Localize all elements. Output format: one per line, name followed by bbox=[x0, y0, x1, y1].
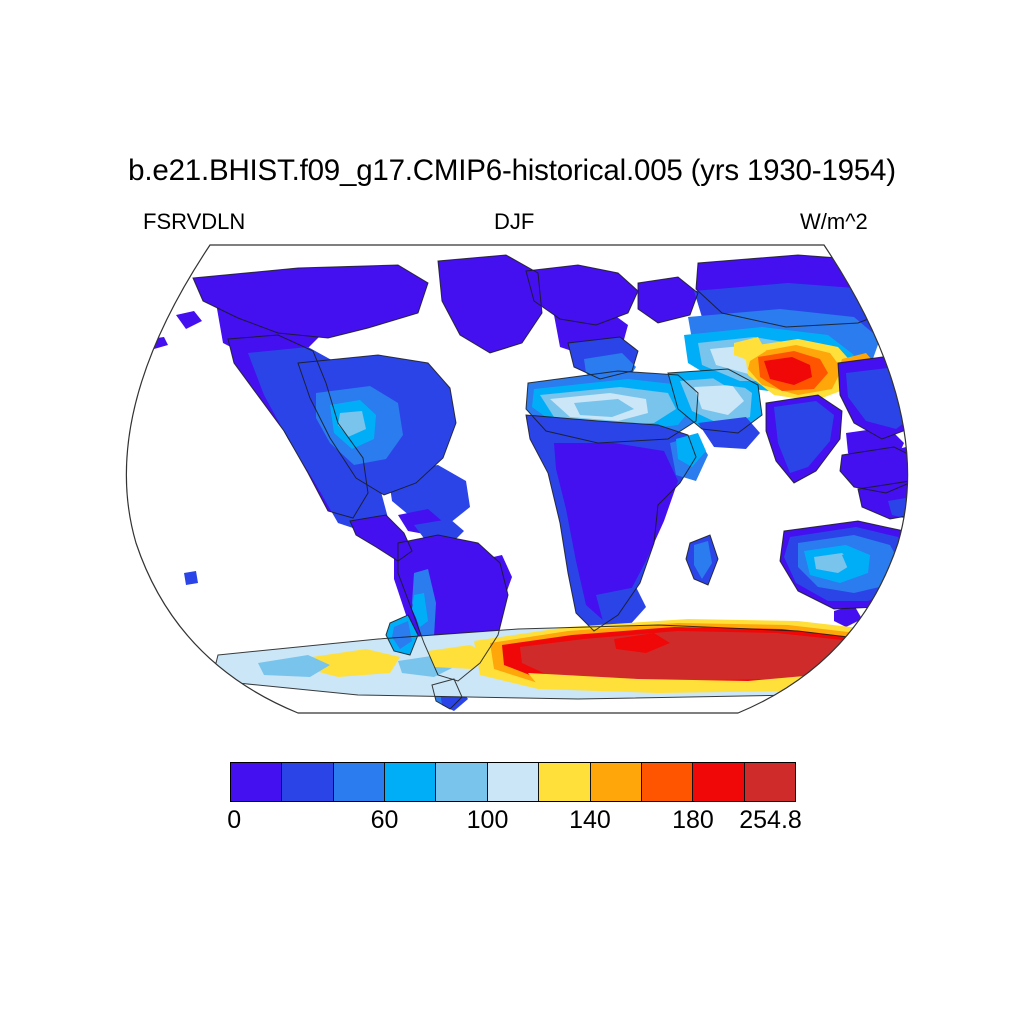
map-header-labels: FSRVDLN DJF W/m^2 bbox=[0, 209, 1024, 239]
colorbar-band bbox=[488, 763, 539, 801]
colorbar-tick-label: 140 bbox=[569, 806, 611, 835]
colorbar-band bbox=[642, 763, 693, 801]
units-label: W/m^2 bbox=[800, 209, 868, 235]
colorbar-tick-label: 0 bbox=[227, 806, 241, 835]
map-canvas bbox=[98, 243, 936, 725]
colorbar-band bbox=[693, 763, 744, 801]
climate-map-figure: b.e21.BHIST.f09_g17.CMIP6-historical.005… bbox=[0, 0, 1024, 1024]
colorbar bbox=[230, 762, 796, 802]
colorbar-band bbox=[282, 763, 333, 801]
colorbar-band bbox=[231, 763, 282, 801]
colorbar-band bbox=[591, 763, 642, 801]
colorbar-band bbox=[436, 763, 487, 801]
colorbar-tick-label: 180 bbox=[672, 806, 714, 835]
variable-label: FSRVDLN bbox=[143, 209, 245, 235]
colorbar-band bbox=[745, 763, 795, 801]
map-data-layer bbox=[98, 243, 936, 725]
colorbar-tick-labels: 060100140180254.8 bbox=[0, 806, 1024, 842]
world-map bbox=[98, 243, 936, 725]
colorbar-band bbox=[539, 763, 590, 801]
colorbar-band bbox=[334, 763, 385, 801]
colorbar-tick-label: 100 bbox=[467, 806, 509, 835]
page-title: b.e21.BHIST.f09_g17.CMIP6-historical.005… bbox=[0, 154, 1024, 188]
season-label: DJF bbox=[494, 209, 534, 235]
colorbar-band bbox=[385, 763, 436, 801]
colorbar-tick-label: 60 bbox=[371, 806, 399, 835]
colorbar-tick-label: 254.8 bbox=[739, 806, 802, 835]
